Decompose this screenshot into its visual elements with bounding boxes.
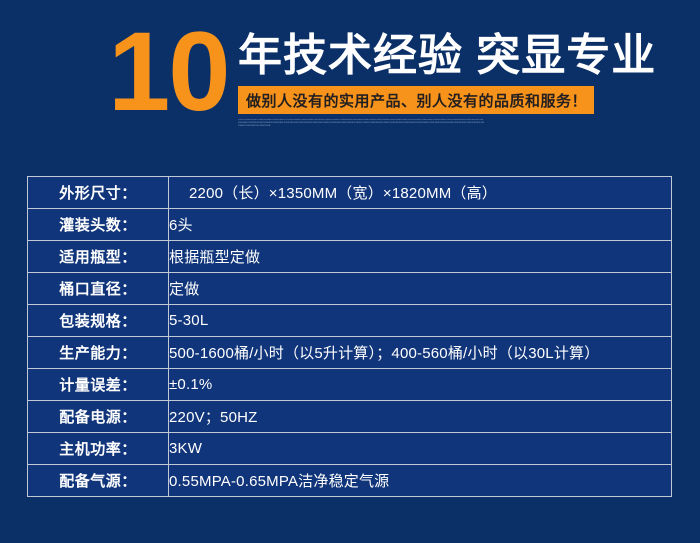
spec-label: 包装规格： xyxy=(28,305,169,337)
product-spec-banner-page: 10 年技术经验 突显专业 做别人没有的实用产品、别人没有的品质和服务！ JHD… xyxy=(0,0,700,543)
spec-table-body: 外形尺寸： 2200（长）×1350MM（宽）×1820MM（高） 灌装头数： … xyxy=(28,177,672,497)
spec-label: 桶口直径： xyxy=(28,273,169,305)
decorative-microtext: JHDFK34JHF93JHFKJ3HF9834HFKJ3HF9834HFJKD… xyxy=(238,119,484,139)
table-row: 适用瓶型： 根据瓶型定做 xyxy=(28,241,672,273)
spec-label: 配备电源： xyxy=(28,401,169,433)
years-number: 10 xyxy=(108,16,229,128)
promo-banner: 10 年技术经验 突显专业 做别人没有的实用产品、别人没有的品质和服务！ JHD… xyxy=(0,0,700,160)
banner-subtitle-bar: 做别人没有的实用产品、别人没有的品质和服务！ xyxy=(238,86,594,114)
spec-value: 500-1600桶/小时（以5升计算）；400-560桶/小时（以30L计算） xyxy=(169,337,672,369)
spec-label: 计量误差： xyxy=(28,369,169,401)
spec-value: 2200（长）×1350MM（宽）×1820MM（高） xyxy=(169,177,672,209)
table-row: 包装规格： 5-30L xyxy=(28,305,672,337)
table-row: 计量误差： ±0.1% xyxy=(28,369,672,401)
spec-value: 6头 xyxy=(169,209,672,241)
specification-table: 外形尺寸： 2200（长）×1350MM（宽）×1820MM（高） 灌装头数： … xyxy=(27,176,672,497)
spec-label: 灌装头数： xyxy=(28,209,169,241)
spec-label: 主机功率： xyxy=(28,433,169,465)
spec-label: 外形尺寸： xyxy=(28,177,169,209)
table-row: 主机功率： 3KW xyxy=(28,433,672,465)
spec-value: 根据瓶型定做 xyxy=(169,241,672,273)
spec-label: 生产能力： xyxy=(28,337,169,369)
spec-value: 0.55MPA-0.65MPA洁净稳定气源 xyxy=(169,465,672,497)
table-row: 配备电源： 220V；50HZ xyxy=(28,401,672,433)
spec-value: 5-30L xyxy=(169,305,672,337)
spec-value: 3KW xyxy=(169,433,672,465)
spec-value: 220V；50HZ xyxy=(169,401,672,433)
spec-value: 定做 xyxy=(169,273,672,305)
spec-value: ±0.1% xyxy=(169,369,672,401)
table-row: 生产能力： 500-1600桶/小时（以5升计算）；400-560桶/小时（以3… xyxy=(28,337,672,369)
table-row: 外形尺寸： 2200（长）×1350MM（宽）×1820MM（高） xyxy=(28,177,672,209)
banner-subtitle-text: 做别人没有的实用产品、别人没有的品质和服务！ xyxy=(238,90,587,111)
table-row: 桶口直径： 定做 xyxy=(28,273,672,305)
table-row: 配备气源： 0.55MPA-0.65MPA洁净稳定气源 xyxy=(28,465,672,497)
spec-label: 配备气源： xyxy=(28,465,169,497)
spec-label: 适用瓶型： xyxy=(28,241,169,273)
table-row: 灌装头数： 6头 xyxy=(28,209,672,241)
banner-headline: 年技术经验 突显专业 xyxy=(238,32,656,80)
